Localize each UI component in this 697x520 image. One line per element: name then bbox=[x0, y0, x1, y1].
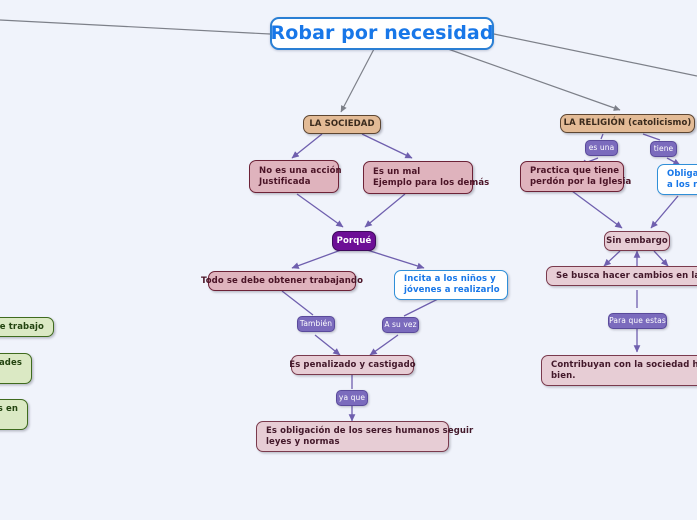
node-contribuyan-sociedad-label: Contribuyan con la sociedad haciendo bie… bbox=[551, 360, 697, 381]
node-obligacion-ne-label: Obligac a los ne bbox=[667, 169, 697, 190]
edge-root-religion bbox=[448, 49, 620, 110]
node-obligacion-seguir-leyes-label: Es obligación de los seres humanos segui… bbox=[266, 426, 473, 447]
node-todo-se-debe-obtener-trabajando[interactable]: Todo se debe obtener trabajando bbox=[208, 271, 356, 291]
edge-root-right-out bbox=[494, 34, 697, 76]
chip-es-una[interactable]: es una bbox=[585, 140, 618, 156]
node-incita-ninos-jovenes[interactable]: Incita a los niños y jóvenes a realizarl… bbox=[394, 270, 508, 300]
chip-tambien-label: También bbox=[300, 319, 332, 328]
node-es-penalizado-y-castigado[interactable]: Es penalizado y castigado bbox=[291, 355, 414, 375]
node-la-religion-label: LA RELIGIÓN (catolicismo) bbox=[564, 118, 692, 129]
node-es-un-mal-ejemplo-label: Es un mal Ejemplo para los demás bbox=[373, 167, 489, 188]
node-green-os-en-label: os en a bbox=[0, 404, 18, 425]
edge-root-left bbox=[0, 20, 270, 34]
mindmap-canvas: Robar por necesidad LA SOCIEDAD LA RELIG… bbox=[0, 0, 697, 520]
node-practica-perdon-iglesia[interactable]: Practica que tiene perdón por la Iglesia bbox=[520, 161, 624, 192]
node-la-sociedad-label: LA SOCIEDAD bbox=[309, 119, 374, 130]
node-porque[interactable]: Porqué bbox=[332, 231, 376, 251]
chip-ya-que-label: ya que bbox=[339, 393, 365, 402]
node-green-dades[interactable]: dades o bbox=[0, 353, 32, 384]
edge-porque-trabajando bbox=[292, 250, 341, 268]
edge-asuvez-penalizado bbox=[370, 335, 398, 355]
edge-sinembargo-cambios-r bbox=[654, 251, 668, 266]
node-no-es-accion-justificada[interactable]: No es una acción Justificada bbox=[249, 160, 339, 193]
edge-obligacne-sinembargo bbox=[651, 196, 678, 228]
edge-nojust-porque bbox=[297, 194, 343, 227]
chip-tambien[interactable]: También bbox=[297, 316, 335, 332]
chip-a-su-vez[interactable]: A su vez bbox=[382, 317, 419, 333]
edge-religion-tiene bbox=[643, 134, 660, 140]
edge-porque-incita bbox=[367, 250, 424, 268]
chip-es-una-label: es una bbox=[589, 143, 615, 152]
node-green-trabajo[interactable]: s de trabajo bbox=[0, 317, 54, 337]
node-practica-perdon-iglesia-label: Practica que tiene perdón por la Iglesia bbox=[530, 166, 631, 187]
node-la-sociedad[interactable]: LA SOCIEDAD bbox=[303, 115, 381, 134]
node-obligacion-seguir-leyes[interactable]: Es obligación de los seres humanos segui… bbox=[256, 421, 449, 452]
node-todo-se-debe-obtener-trabajando-label: Todo se debe obtener trabajando bbox=[201, 276, 363, 287]
chip-a-su-vez-label: A su vez bbox=[384, 320, 416, 329]
edge-trabajando-tambien bbox=[282, 291, 313, 315]
node-incita-ninos-jovenes-label: Incita a los niños y jóvenes a realizarl… bbox=[404, 274, 500, 295]
node-cambios-personas-label: Se busca hacer cambios en las pers bbox=[556, 271, 697, 282]
node-green-os-en[interactable]: os en a bbox=[0, 399, 28, 430]
node-contribuyan-sociedad[interactable]: Contribuyan con la sociedad haciendo bie… bbox=[541, 355, 697, 386]
node-porque-label: Porqué bbox=[337, 236, 372, 247]
chip-para-que-estas[interactable]: Para que estas bbox=[608, 313, 667, 329]
edge-sociedad-malejemplo bbox=[362, 134, 412, 158]
chip-ya-que[interactable]: ya que bbox=[336, 390, 368, 406]
node-es-penalizado-y-castigado-label: Es penalizado y castigado bbox=[289, 360, 415, 371]
edge-root-sociedad bbox=[341, 49, 374, 112]
root-node[interactable]: Robar por necesidad bbox=[270, 17, 494, 50]
node-green-trabajo-label: s de trabajo bbox=[0, 322, 44, 333]
node-cambios-personas[interactable]: Se busca hacer cambios en las pers bbox=[546, 266, 697, 286]
node-no-es-accion-justificada-label: No es una acción Justificada bbox=[259, 166, 342, 187]
chip-tiene-label: tiene bbox=[654, 144, 674, 153]
edge-practica-sinembargo bbox=[572, 191, 622, 228]
root-node-label: Robar por necesidad bbox=[270, 22, 493, 46]
edge-sociedad-nojust bbox=[292, 134, 322, 158]
node-la-religion[interactable]: LA RELIGIÓN (catolicismo) bbox=[560, 114, 695, 133]
node-sin-embargo[interactable]: Sin embargo bbox=[604, 231, 670, 251]
edge-tambien-penalizado bbox=[315, 335, 340, 355]
edge-religion-esuna bbox=[601, 134, 603, 139]
edge-incita-asuvez bbox=[404, 298, 440, 316]
node-sin-embargo-label: Sin embargo bbox=[606, 236, 668, 247]
chip-tiene[interactable]: tiene bbox=[650, 141, 677, 157]
edge-malejemplo-porque bbox=[365, 194, 405, 227]
edge-sinembargo-cambios-l bbox=[604, 251, 620, 266]
node-green-dades-label: dades o bbox=[0, 358, 22, 379]
node-obligacion-ne[interactable]: Obligac a los ne bbox=[657, 164, 697, 195]
node-es-un-mal-ejemplo[interactable]: Es un mal Ejemplo para los demás bbox=[363, 161, 473, 194]
chip-para-que-estas-label: Para que estas bbox=[609, 316, 666, 325]
